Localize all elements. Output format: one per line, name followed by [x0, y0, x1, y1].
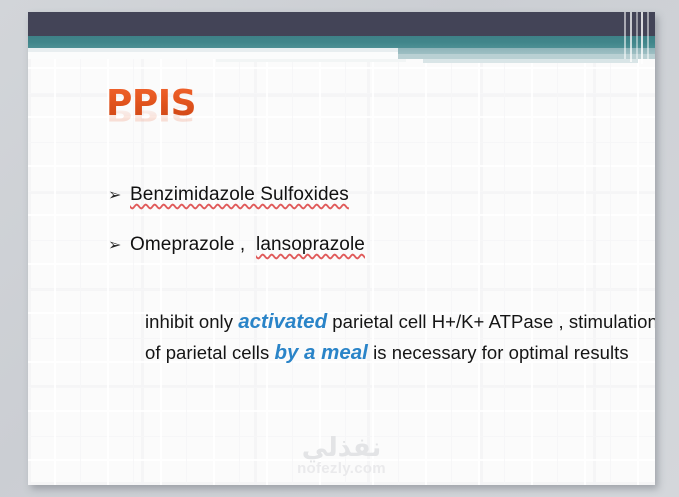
banner-hairline-3	[636, 12, 638, 59]
watermark-url: nofezly.com	[28, 460, 655, 477]
body-paragraph: inhibit only activated parietal cell H+/…	[145, 306, 655, 368]
banner-band-accent-b	[216, 59, 406, 62]
arrowhead-bullet-icon: ➢	[108, 187, 130, 203]
banner-band-white-left	[28, 52, 398, 59]
banner-band-accent-a	[423, 59, 638, 63]
bullet-item-1-label: Benzimidazole Sulfoxides	[130, 184, 349, 206]
body-emphasis-by-a-meal: by a meal	[274, 341, 367, 364]
bullet-item-1: ➢ Benzimidazole Sulfoxides	[108, 184, 349, 206]
slide-title-block: PPIS PPIS	[106, 86, 196, 159]
banner-band-dark	[28, 12, 655, 36]
body-segment-3: is necessary for optimal results	[368, 342, 629, 363]
slide-banner	[28, 12, 655, 58]
banner-hairline-2	[630, 12, 632, 62]
bullet-item-2-text-plain: Omeprazole ,	[130, 234, 256, 255]
presentation-canvas: PPIS PPIS ➢ Benzimidazole Sulfoxides ➢ O…	[0, 0, 679, 497]
banner-hairline-5	[647, 12, 649, 59]
bullet-item-2: ➢ Omeprazole , lansoprazole	[108, 234, 365, 256]
bullet-item-2-text-misspelled: lansoprazole	[256, 234, 365, 255]
banner-band-teal	[28, 36, 655, 48]
banner-hairline-4	[641, 12, 643, 64]
slide-title-reflection: PPIS	[106, 101, 196, 123]
banner-hairline-1	[624, 12, 626, 59]
arrowhead-bullet-icon: ➢	[108, 237, 130, 253]
watermark-arabic-logo: نفذلي	[28, 436, 655, 460]
body-segment-1: inhibit only	[145, 311, 238, 332]
body-emphasis-activated: activated	[238, 310, 327, 333]
watermark: نفذلي nofezly.com	[28, 436, 655, 477]
bullet-item-2-label: Omeprazole , lansoprazole	[130, 234, 365, 256]
slide: PPIS PPIS ➢ Benzimidazole Sulfoxides ➢ O…	[28, 12, 655, 485]
